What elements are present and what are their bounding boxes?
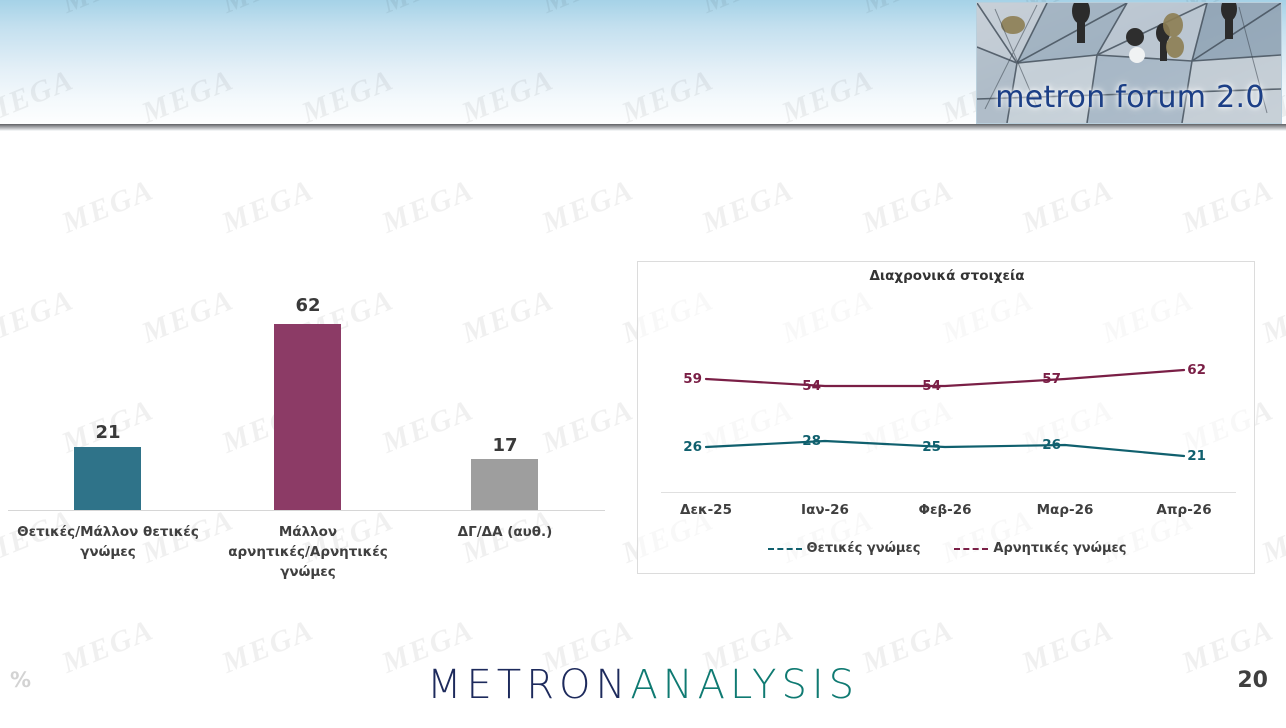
- point-label-pos-3: 26: [1042, 437, 1065, 453]
- watermark-text: MEGA: [1257, 503, 1286, 571]
- bar-group-1: 21 Θετικές/Μάλλον θετικές γνώμες: [8, 150, 208, 570]
- watermark-text: MEGA: [297, 723, 399, 728]
- bar-chart: 21 Θετικές/Μάλλον θετικές γνώμες 62 Μάλλ…: [0, 150, 620, 570]
- legend-item-negative[interactable]: Αρνητικές γνώμες: [954, 541, 1126, 556]
- watermark-text: MEGA: [697, 173, 799, 241]
- bar-rect-1: [74, 447, 141, 510]
- point-label-neg-3: 57: [1042, 371, 1065, 387]
- watermark-text: MEGA: [0, 723, 79, 728]
- watermark-text: MEGA: [777, 723, 879, 728]
- bar-rect-3: [471, 459, 538, 510]
- point-label-neg-4: 62: [1187, 362, 1210, 378]
- brand-metron-text: METRON: [427, 662, 630, 708]
- legend-item-positive[interactable]: Θετικές γνώμες: [768, 541, 921, 556]
- brand-analysis-text: ANALYSIS: [630, 662, 859, 708]
- watermark-text: MEGA: [1257, 283, 1286, 351]
- x-tick-3: Μαρ-26: [1005, 502, 1125, 518]
- bar-group-2: 62 Μάλλον αρνητικές/Αρνητικές γνώμες: [208, 150, 408, 570]
- watermark-text: MEGA: [617, 723, 719, 728]
- point-label-pos-1: 28: [802, 433, 825, 449]
- line-chart-legend: Θετικές γνώμες Αρνητικές γνώμες: [638, 541, 1256, 556]
- legend-swatch-negative-icon: [954, 548, 988, 550]
- bar-category-1: Θετικές/Μάλλον θετικές γνώμες: [3, 522, 213, 562]
- slide-canvas: Η δημοφιλία του ΠτΔ κ. Κωνσταντίνου Τασο…: [0, 0, 1286, 728]
- x-tick-4: Απρ-26: [1124, 502, 1244, 518]
- bar-rect-2: [274, 324, 341, 510]
- page-number: 20: [1237, 668, 1268, 693]
- watermark-text: MEGA: [1097, 723, 1199, 728]
- watermark-text: MEGA: [457, 723, 559, 728]
- series-line-negative: [706, 370, 1184, 386]
- point-label-neg-2: 54: [922, 378, 945, 394]
- point-label-neg-0: 59: [683, 371, 706, 387]
- legend-swatch-positive-icon: [768, 548, 802, 550]
- point-label-pos-2: 25: [922, 439, 945, 455]
- watermark-text: MEGA: [1177, 173, 1279, 241]
- x-tick-1: Ιαν-26: [765, 502, 885, 518]
- legend-label-negative: Αρνητικές γνώμες: [993, 541, 1126, 556]
- watermark-text: MEGA: [1017, 173, 1119, 241]
- watermark-text: MEGA: [1257, 723, 1286, 728]
- header-divider: [0, 124, 1286, 131]
- point-label-pos-4: 21: [1187, 448, 1210, 464]
- point-label-neg-1: 54: [802, 378, 825, 394]
- x-tick-2: Φεβ-26: [885, 502, 1005, 518]
- x-tick-0: Δεκ-25: [646, 502, 766, 518]
- forum-logo-text: metron forum 2.0: [977, 80, 1282, 115]
- watermark-text: MEGA: [937, 723, 1039, 728]
- metron-analysis-logo: METRONANALYSIS: [0, 662, 1286, 708]
- watermark-text: MEGA: [137, 723, 239, 728]
- point-label-pos-0: 26: [683, 439, 706, 455]
- bar-value-3: 17: [405, 435, 605, 456]
- legend-label-positive: Θετικές γνώμες: [807, 541, 921, 556]
- line-chart-plot: [638, 262, 1256, 575]
- bar-value-1: 21: [8, 422, 208, 443]
- watermark-text: MEGA: [857, 173, 959, 241]
- bar-category-3: ΔΓ/ΔΑ (αυθ.): [400, 522, 610, 542]
- series-line-positive: [706, 441, 1184, 456]
- timeline-line-chart: Διαχρονικά στοιχεία 59 54 54 57 62 26 28…: [637, 261, 1255, 574]
- metron-forum-logo: metron forum 2.0: [976, 2, 1282, 124]
- bar-value-2: 62: [208, 295, 408, 316]
- bar-group-3: 17 ΔΓ/ΔΑ (αυθ.): [405, 150, 605, 570]
- line-chart-axis-line: [661, 492, 1236, 493]
- bar-category-2: Μάλλον αρνητικές/Αρνητικές γνώμες: [203, 522, 413, 582]
